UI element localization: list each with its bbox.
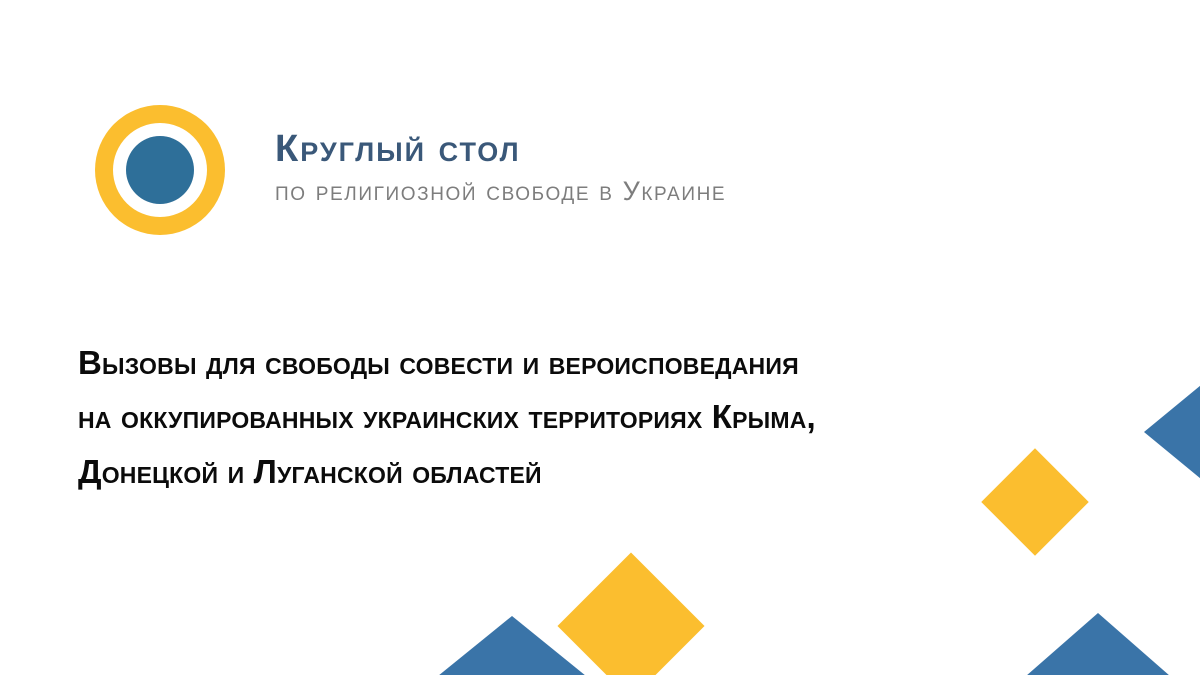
headline-line-3: Донецкой и Луганской областей: [78, 445, 1088, 499]
logo-center-dot: [126, 136, 194, 204]
bottom-left-blue-triangle-icon: [438, 616, 586, 675]
round-table-circle-logo-icon: [95, 105, 225, 235]
brand-title: Круглый стол: [275, 130, 726, 170]
bottom-right-blue-triangle-icon: [1026, 613, 1170, 675]
logo-inner-ring: [113, 123, 207, 217]
presentation-slide: Круглый стол по религиозной свободе в Ук…: [0, 0, 1200, 675]
brand-text-block: Круглый стол по религиозной свободе в Ук…: [275, 130, 726, 211]
headline-line-2: на оккупированных украинских территориях…: [78, 390, 1088, 444]
brand-subtitle: по религиозной свободе в Украине: [275, 177, 726, 207]
headline-line-1: Вызовы для свободы совести и вероисповед…: [78, 336, 1088, 390]
page-title: Вызовы для свободы совести и вероисповед…: [78, 336, 1088, 499]
right-edge-blue-triangle-icon: [1144, 381, 1200, 483]
brand-lockup: Круглый стол по религиозной свободе в Ук…: [95, 105, 726, 235]
